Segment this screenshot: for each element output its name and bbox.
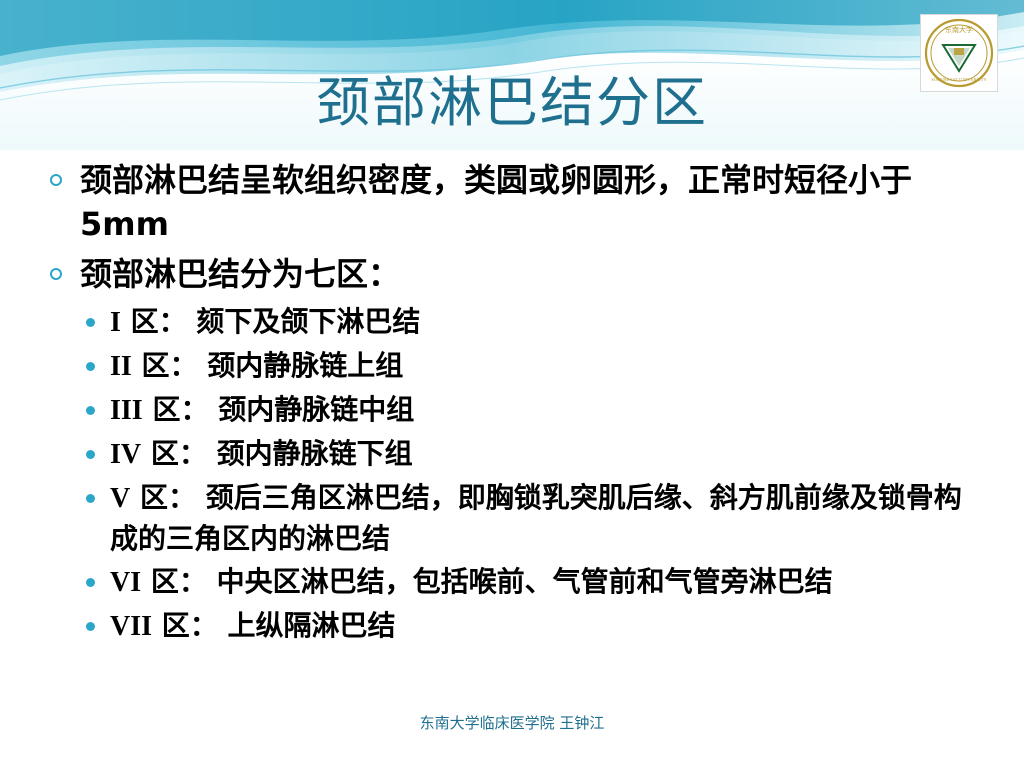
- slide: 东南大学 SOUTHEAST UNIVERSITY 颈部淋巴结分区 颈部淋巴结呈…: [0, 0, 1024, 768]
- list-item: III 区： 颈内静脉链中组: [40, 390, 988, 431]
- list-item-text: 区： 上纵隔淋巴结: [152, 609, 396, 642]
- list-item-text: 颈部淋巴结呈软组织密度，类圆或卵圆形，正常时短径小于 5mm: [80, 161, 912, 243]
- zone-numeral: V: [110, 483, 130, 514]
- list-item: I 区： 颏下及颌下淋巴结: [40, 302, 988, 343]
- bullet-dot-icon: [86, 406, 95, 415]
- bullet-dot-icon: [86, 494, 95, 503]
- bullet-dot-icon: [86, 450, 95, 459]
- bullet-dot-icon: [86, 578, 95, 587]
- list-item-text: 区： 颏下及颌下淋巴结: [121, 305, 421, 338]
- list-item: 颈部淋巴结分为七区：: [40, 252, 988, 296]
- bullet-dot-icon: [86, 318, 95, 327]
- svg-text:东南大学: 东南大学: [945, 25, 973, 34]
- list-item-text: 颈部淋巴结分为七区：: [80, 255, 400, 293]
- zone-numeral: I: [110, 307, 121, 338]
- bullet-circle-icon: [50, 268, 62, 280]
- list-item: II 区： 颈内静脉链上组: [40, 346, 988, 387]
- zone-numeral: IV: [110, 439, 141, 470]
- list-item-text: 区： 中央区淋巴结，包括喉前、气管前和气管旁淋巴结: [141, 565, 833, 598]
- page-title: 颈部淋巴结分区: [0, 72, 1024, 134]
- bullet-dot-icon: [86, 362, 95, 371]
- zone-numeral: III: [110, 395, 143, 426]
- list-item-text: 区： 颈后三角区淋巴结，即胸锁乳突肌后缘、斜方肌前缘及锁骨构成的三角区内的淋巴结: [110, 481, 962, 555]
- list-item-text: 区： 颈内静脉链中组: [143, 393, 415, 426]
- list-item-text: 区： 颈内静脉链下组: [141, 437, 413, 470]
- zone-numeral: VI: [110, 567, 141, 598]
- bullet-dot-icon: [86, 622, 95, 631]
- zone-numeral: II: [110, 351, 132, 382]
- list-item: VI 区： 中央区淋巴结，包括喉前、气管前和气管旁淋巴结: [40, 562, 988, 603]
- list-item-text: 区： 颈内静脉链上组: [132, 349, 404, 382]
- bullet-circle-icon: [50, 174, 62, 186]
- list-item: 颈部淋巴结呈软组织密度，类圆或卵圆形，正常时短径小于 5mm: [40, 158, 988, 246]
- list-item: VII 区： 上纵隔淋巴结: [40, 606, 988, 647]
- zone-numeral: VII: [110, 611, 152, 642]
- footer-credit: 东南大学临床医学院 王钟江: [0, 712, 1024, 733]
- bullet-list: 颈部淋巴结呈软组织密度，类圆或卵圆形，正常时短径小于 5mm 颈部淋巴结分为七区…: [40, 158, 988, 650]
- list-item: V 区： 颈后三角区淋巴结，即胸锁乳突肌后缘、斜方肌前缘及锁骨构成的三角区内的淋…: [40, 478, 988, 559]
- list-item: IV 区： 颈内静脉链下组: [40, 434, 988, 475]
